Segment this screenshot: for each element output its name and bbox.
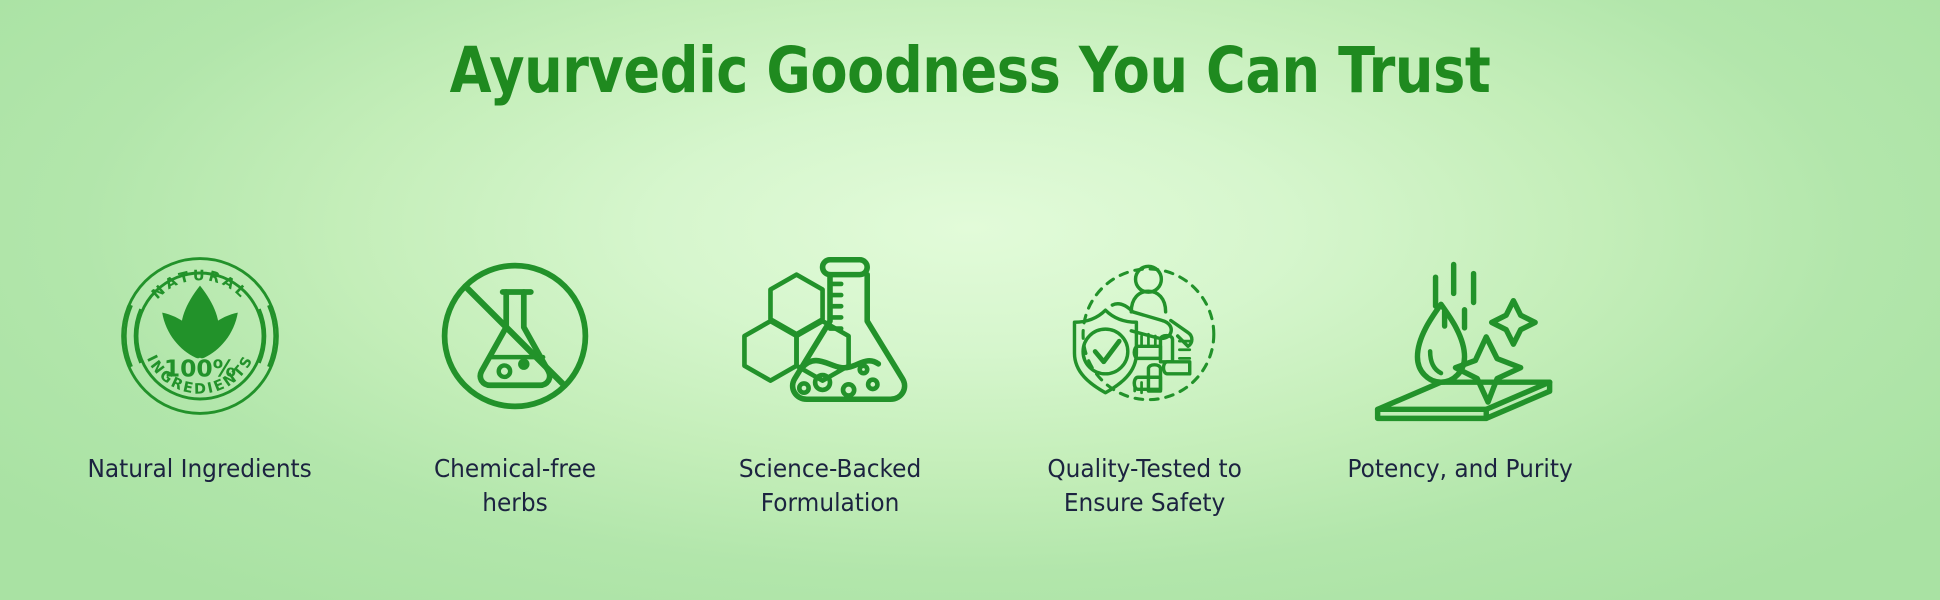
feature-row: 100% NATURAL INGREDIENTS Natural Ingredi…	[50, 236, 1610, 520]
shield-check-care-hands-icon	[1059, 236, 1231, 436]
ayurvedic-trust-banner: Ayurvedic Goodness You Can Trust	[0, 0, 1940, 600]
feature-quality-tested[interactable]: Quality-Tested to Ensure Safety	[995, 236, 1295, 520]
feature-label-quality-tested: Quality-Tested to Ensure Safety	[1048, 452, 1243, 520]
flask-molecule-icon	[737, 236, 923, 436]
feature-natural-ingredients[interactable]: 100% NATURAL INGREDIENTS Natural Ingredi…	[50, 236, 350, 486]
feature-label-potency-and-purity: Potency, and Purity	[1347, 452, 1572, 486]
feature-label-chemical-free-herbs: Chemical-free herbs	[399, 452, 632, 520]
feature-science-backed-formulation[interactable]: Science-Backed Formulation	[680, 236, 980, 520]
no-chemicals-flask-icon	[427, 236, 603, 436]
page-title: Ayurvedic Goodness You Can Trust	[136, 36, 1804, 107]
feature-label-science-backed-formulation: Science-Backed Formulation	[739, 452, 921, 520]
feature-potency-and-purity[interactable]: Potency, and Purity	[1310, 236, 1610, 486]
water-droplet-sparkle-fabric-icon	[1364, 236, 1556, 436]
feature-chemical-free-herbs[interactable]: Chemical-free herbs	[365, 236, 665, 520]
natural-100-percent-badge-icon: 100% NATURAL INGREDIENTS	[110, 236, 290, 436]
feature-label-natural-ingredients: Natural Ingredients	[88, 452, 312, 486]
